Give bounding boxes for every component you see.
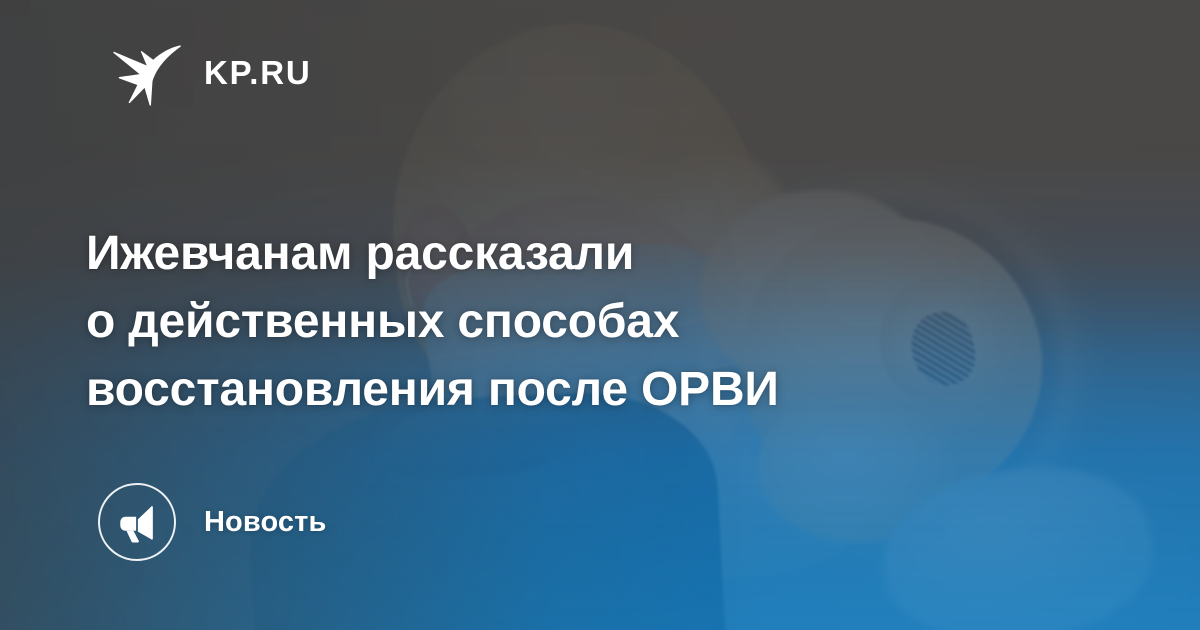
headline-line-3: восстановления после ОРВИ (86, 356, 946, 424)
page-title: Ижевчанам рассказали о действенных спосо… (86, 220, 946, 424)
headline-line-2: о действенных способах (86, 288, 946, 356)
megaphone-icon (98, 483, 176, 561)
swallow-bird-logo-icon (110, 36, 182, 108)
masthead[interactable]: KP.RU (110, 36, 312, 108)
kp-share-card: KP.RU Ижевчанам рассказали о действенных… (0, 0, 1200, 630)
headline-line-1: Ижевчанам рассказали (86, 220, 946, 288)
status-badge-label: Новость (204, 508, 326, 537)
wordmark-kp-ru: KP.RU (204, 56, 312, 89)
card-content: KP.RU Ижевчанам рассказали о действенных… (0, 0, 1200, 630)
status-badge[interactable]: Новость (98, 483, 326, 561)
